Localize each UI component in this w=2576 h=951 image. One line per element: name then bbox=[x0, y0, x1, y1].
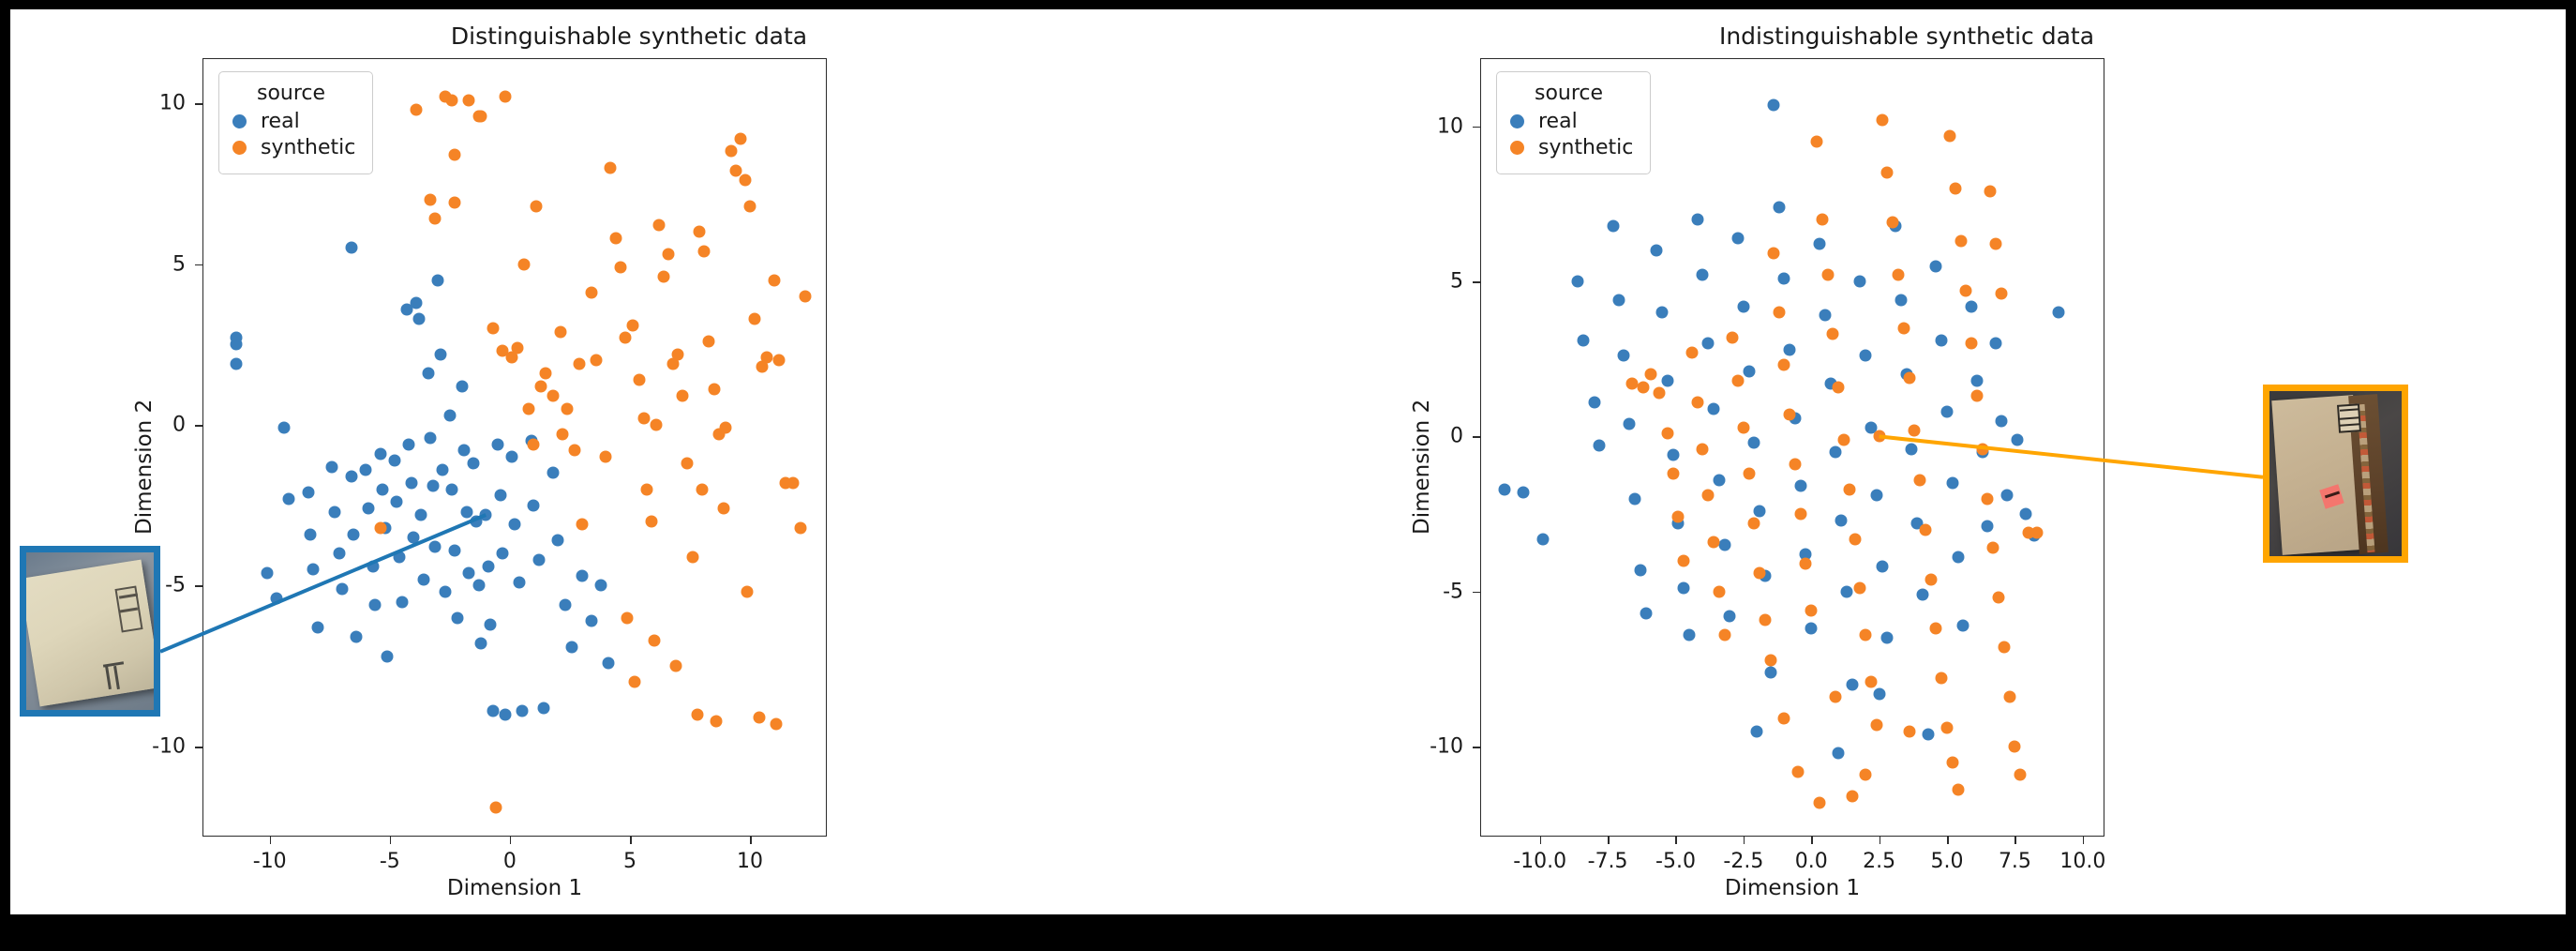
figure-canvas: Distinguishable synthetic data Dimension… bbox=[10, 9, 2566, 914]
data-point-real bbox=[552, 535, 564, 547]
data-point-synthetic bbox=[754, 712, 766, 724]
data-point-synthetic bbox=[614, 261, 626, 273]
data-point-synthetic bbox=[1748, 518, 1760, 530]
data-point-synthetic bbox=[1685, 347, 1698, 359]
data-point-real bbox=[1876, 561, 1888, 573]
data-point-real bbox=[1922, 728, 1934, 740]
data-point-real bbox=[576, 570, 588, 582]
data-point-synthetic bbox=[1854, 582, 1866, 595]
data-point-real bbox=[302, 487, 314, 499]
data-point-synthetic bbox=[1754, 566, 1766, 579]
data-point-real bbox=[537, 702, 549, 714]
legend-dot-synthetic-icon bbox=[232, 141, 247, 155]
box-photo-left bbox=[26, 552, 154, 710]
data-point-real bbox=[585, 615, 597, 627]
data-point-synthetic bbox=[1784, 409, 1796, 421]
data-point-synthetic bbox=[799, 290, 811, 302]
data-point-synthetic bbox=[717, 503, 729, 515]
data-point-real bbox=[403, 438, 415, 450]
data-point-real bbox=[1691, 213, 1703, 225]
data-point-synthetic bbox=[1897, 322, 1910, 334]
inset-border-left bbox=[20, 546, 160, 717]
data-point-synthetic bbox=[1946, 756, 1958, 768]
data-point-synthetic bbox=[1976, 443, 1988, 455]
data-point-synthetic bbox=[1930, 623, 1942, 635]
data-point-synthetic bbox=[741, 586, 754, 598]
data-point-real bbox=[334, 548, 346, 560]
x-tick bbox=[1947, 837, 1949, 844]
data-point-real bbox=[595, 580, 607, 592]
data-point-real bbox=[1651, 245, 1663, 257]
x-tick bbox=[1675, 837, 1677, 844]
data-point-real bbox=[1751, 725, 1763, 737]
data-point-real bbox=[1708, 402, 1720, 415]
data-point-synthetic bbox=[562, 402, 574, 415]
data-point-real bbox=[230, 357, 242, 370]
y-tick bbox=[195, 747, 202, 748]
y-tick bbox=[195, 103, 202, 105]
data-point-synthetic bbox=[2030, 526, 2043, 538]
data-point-synthetic bbox=[1903, 371, 1915, 384]
data-point-real bbox=[532, 554, 545, 566]
data-point-synthetic bbox=[648, 634, 660, 646]
data-point-real bbox=[1764, 666, 1776, 678]
data-point-synthetic bbox=[528, 438, 540, 450]
data-point-real bbox=[2012, 433, 2024, 445]
data-point-real bbox=[425, 431, 437, 444]
data-point-real bbox=[405, 476, 417, 489]
data-point-synthetic bbox=[1952, 784, 1964, 796]
data-point-real bbox=[2052, 307, 2064, 319]
data-point-synthetic bbox=[1876, 114, 1888, 127]
data-point-synthetic bbox=[646, 515, 658, 527]
data-point-real bbox=[1743, 365, 1755, 377]
data-point-synthetic bbox=[1678, 554, 1690, 566]
data-point-real bbox=[1778, 272, 1790, 284]
data-point-real bbox=[1536, 533, 1549, 545]
legend-title-right: source bbox=[1535, 82, 1633, 105]
data-point-real bbox=[566, 641, 578, 653]
x-tick bbox=[1540, 837, 1542, 844]
data-point-synthetic bbox=[591, 355, 603, 367]
data-point-synthetic bbox=[1860, 629, 1872, 642]
legend-dot-real-icon bbox=[232, 114, 247, 128]
data-point-real bbox=[283, 492, 295, 505]
data-point-real bbox=[412, 312, 425, 325]
data-point-synthetic bbox=[1760, 613, 1772, 626]
data-point-synthetic bbox=[446, 94, 458, 106]
data-point-synthetic bbox=[1813, 796, 1825, 808]
data-point-synthetic bbox=[1794, 508, 1806, 521]
data-point-synthetic bbox=[1833, 381, 1845, 393]
panel-indistinguishable: Indistinguishable synthetic data Dimensi… bbox=[1288, 9, 2566, 914]
data-point-synthetic bbox=[626, 319, 638, 331]
data-point-synthetic bbox=[1713, 585, 1725, 597]
y-tick bbox=[195, 425, 202, 427]
data-point-synthetic bbox=[1943, 129, 1955, 142]
data-point-real bbox=[311, 622, 323, 634]
data-point-real bbox=[1946, 477, 1958, 490]
data-point-synthetic bbox=[1870, 718, 1882, 731]
data-point-real bbox=[472, 580, 485, 592]
data-point-synthetic bbox=[518, 258, 531, 270]
y-tick bbox=[1473, 436, 1480, 438]
data-point-real bbox=[369, 599, 382, 611]
data-point-synthetic bbox=[1887, 217, 1899, 229]
data-point-synthetic bbox=[1873, 430, 1885, 443]
data-point-synthetic bbox=[547, 390, 559, 402]
data-point-synthetic bbox=[640, 483, 652, 495]
data-point-real bbox=[1995, 415, 2007, 427]
data-point-synthetic bbox=[1778, 713, 1790, 725]
data-point-real bbox=[427, 480, 439, 492]
legend-row-real-right[interactable]: real bbox=[1510, 110, 1633, 133]
data-point-real bbox=[1970, 374, 1983, 386]
data-point-synthetic bbox=[448, 197, 460, 209]
data-point-real bbox=[307, 564, 319, 576]
data-point-synthetic bbox=[1936, 672, 1948, 685]
data-point-synthetic bbox=[489, 802, 502, 814]
data-point-real bbox=[350, 631, 362, 643]
data-point-synthetic bbox=[1984, 186, 1997, 198]
data-point-real bbox=[1906, 443, 1918, 455]
y-tick-label: 0 bbox=[1386, 425, 1463, 448]
data-point-real bbox=[1618, 350, 1630, 362]
data-point-real bbox=[437, 464, 449, 476]
data-point-synthetic bbox=[1789, 459, 1801, 471]
data-point-real bbox=[456, 380, 468, 392]
data-point-real bbox=[1957, 620, 1969, 632]
x-tick-label: 10 bbox=[737, 850, 763, 873]
data-point-real bbox=[1990, 338, 2002, 350]
data-point-synthetic bbox=[657, 271, 669, 283]
data-point-real bbox=[305, 528, 317, 540]
data-point-synthetic bbox=[794, 521, 806, 534]
data-point-synthetic bbox=[1727, 331, 1739, 343]
data-point-real bbox=[271, 593, 283, 605]
data-point-real bbox=[417, 573, 429, 585]
data-point-real bbox=[1982, 521, 1994, 533]
data-point-real bbox=[1966, 300, 1978, 312]
data-point-synthetic bbox=[1838, 433, 1850, 445]
data-point-real bbox=[394, 551, 406, 563]
data-point-real bbox=[559, 599, 571, 611]
data-point-synthetic bbox=[523, 402, 535, 415]
data-point-real bbox=[1846, 678, 1858, 690]
legend-row-synthetic-right[interactable]: synthetic bbox=[1510, 136, 1633, 159]
data-point-real bbox=[1936, 334, 1948, 346]
inset-border-right bbox=[2263, 385, 2408, 563]
x-tick-label: -7.5 bbox=[1588, 850, 1628, 873]
data-point-real bbox=[468, 458, 480, 470]
data-point-synthetic bbox=[725, 145, 737, 158]
data-point-synthetic bbox=[1954, 235, 1967, 248]
y-tick bbox=[1473, 127, 1480, 128]
data-point-synthetic bbox=[651, 418, 663, 430]
data-point-synthetic bbox=[686, 551, 698, 563]
data-point-synthetic bbox=[600, 451, 612, 463]
data-point-real bbox=[2000, 490, 2013, 502]
data-point-synthetic bbox=[1654, 387, 1666, 400]
data-point-synthetic bbox=[711, 715, 723, 727]
data-point-synthetic bbox=[772, 355, 785, 367]
data-point-synthetic bbox=[609, 233, 622, 245]
data-point-synthetic bbox=[1941, 722, 1954, 734]
data-point-real bbox=[443, 409, 456, 421]
data-point-synthetic bbox=[1990, 238, 2002, 250]
data-point-real bbox=[1895, 294, 1907, 306]
data-point-synthetic bbox=[729, 165, 741, 177]
plot-title-right: Indistinguishable synthetic data bbox=[1325, 23, 2488, 50]
data-point-synthetic bbox=[1846, 791, 1858, 803]
data-point-real bbox=[463, 566, 475, 579]
x-tick-label: 7.5 bbox=[1999, 850, 2031, 873]
legend-right[interactable]: source real synthetic bbox=[1496, 71, 1651, 174]
data-point-real bbox=[485, 618, 497, 630]
data-point-real bbox=[1578, 334, 1590, 346]
data-point-synthetic bbox=[605, 161, 617, 174]
data-point-real bbox=[506, 451, 518, 463]
data-point-real bbox=[382, 650, 394, 662]
data-point-synthetic bbox=[1708, 536, 1720, 548]
data-point-real bbox=[1805, 623, 1818, 635]
data-point-synthetic bbox=[1764, 654, 1776, 666]
data-point-real bbox=[374, 447, 386, 460]
data-point-synthetic bbox=[576, 519, 588, 531]
y-tick bbox=[1473, 747, 1480, 748]
data-point-synthetic bbox=[557, 429, 569, 441]
x-tick bbox=[630, 837, 632, 844]
data-point-real bbox=[391, 496, 403, 508]
data-point-real bbox=[1629, 492, 1641, 505]
data-point-synthetic bbox=[669, 660, 681, 672]
data-point-synthetic bbox=[720, 422, 732, 434]
data-point-real bbox=[410, 296, 422, 309]
data-point-synthetic bbox=[1998, 642, 2010, 654]
data-point-synthetic bbox=[475, 110, 487, 122]
data-point-real bbox=[408, 532, 420, 544]
y-tick-label: 10 bbox=[1386, 114, 1463, 138]
data-point-real bbox=[516, 705, 528, 717]
y-tick-label: 10 bbox=[109, 92, 186, 115]
data-point-synthetic bbox=[1995, 288, 2007, 300]
x-tick-label: 5 bbox=[623, 850, 637, 873]
data-point-real bbox=[1667, 449, 1679, 461]
data-point-synthetic bbox=[554, 325, 566, 338]
legend-title-left: source bbox=[257, 82, 355, 105]
data-point-synthetic bbox=[1805, 604, 1818, 616]
data-point-synthetic bbox=[744, 200, 756, 212]
inset-thumbnail-left[interactable] bbox=[20, 546, 160, 717]
data-point-synthetic bbox=[499, 91, 511, 103]
x-tick bbox=[2014, 837, 2016, 844]
y-tick bbox=[195, 264, 202, 266]
data-point-synthetic bbox=[771, 717, 783, 730]
data-point-synthetic bbox=[429, 213, 442, 225]
data-point-synthetic bbox=[535, 380, 547, 392]
data-point-real bbox=[1737, 300, 1749, 312]
data-point-synthetic bbox=[1743, 468, 1755, 480]
data-point-synthetic bbox=[1860, 768, 1872, 780]
data-point-synthetic bbox=[1881, 167, 1894, 179]
data-point-synthetic bbox=[787, 476, 800, 489]
data-point-synthetic bbox=[585, 287, 597, 299]
data-point-real bbox=[1870, 490, 1882, 502]
data-point-real bbox=[1713, 474, 1725, 486]
data-point-real bbox=[396, 596, 408, 608]
data-point-real bbox=[1594, 440, 1606, 452]
data-point-real bbox=[328, 506, 340, 518]
data-point-synthetic bbox=[629, 676, 641, 688]
data-point-real bbox=[451, 611, 463, 624]
data-point-real bbox=[422, 368, 434, 380]
y-tick-label: 5 bbox=[109, 252, 186, 276]
data-point-real bbox=[1840, 585, 1852, 597]
data-point-synthetic bbox=[1949, 182, 1961, 194]
data-point-synthetic bbox=[2009, 741, 2021, 753]
y-axis-label-right: Dimension 2 bbox=[1410, 400, 1434, 535]
y-tick-label: -5 bbox=[1386, 580, 1463, 603]
data-point-synthetic bbox=[487, 323, 499, 335]
data-point-real bbox=[1813, 238, 1825, 250]
data-point-synthetic bbox=[677, 390, 689, 402]
x-tick bbox=[1811, 837, 1813, 844]
data-point-real bbox=[345, 242, 357, 254]
data-point-synthetic bbox=[1778, 359, 1790, 371]
data-point-real bbox=[475, 638, 487, 650]
data-point-synthetic bbox=[708, 384, 720, 396]
data-point-synthetic bbox=[1773, 307, 1785, 319]
y-tick-label: 0 bbox=[109, 413, 186, 436]
data-point-synthetic bbox=[2003, 691, 2015, 703]
y-tick bbox=[195, 585, 202, 587]
data-point-synthetic bbox=[734, 132, 746, 144]
data-point-real bbox=[1518, 486, 1530, 498]
y-tick-label: -10 bbox=[1386, 735, 1463, 759]
data-point-synthetic bbox=[1811, 136, 1823, 148]
data-point-synthetic bbox=[1645, 369, 1657, 381]
data-point-real bbox=[487, 705, 499, 717]
data-point-synthetic bbox=[1732, 374, 1745, 386]
data-point-real bbox=[446, 483, 458, 495]
data-point-synthetic bbox=[652, 219, 665, 232]
data-point-real bbox=[480, 509, 492, 521]
data-point-synthetic bbox=[531, 200, 543, 212]
data-point-synthetic bbox=[1661, 428, 1673, 440]
data-point-synthetic bbox=[1791, 765, 1804, 777]
x-tick bbox=[510, 837, 512, 844]
legend-label-synthetic-right: synthetic bbox=[1538, 136, 1633, 159]
data-point-synthetic bbox=[1843, 483, 1855, 495]
data-point-real bbox=[509, 519, 521, 531]
data-point-real bbox=[1930, 260, 1942, 272]
data-point-synthetic bbox=[681, 458, 694, 470]
data-point-real bbox=[514, 577, 526, 589]
y-tick bbox=[1473, 281, 1480, 283]
data-point-real bbox=[1724, 611, 1736, 623]
data-point-real bbox=[362, 503, 374, 515]
x-tick bbox=[1608, 837, 1610, 844]
data-point-real bbox=[1767, 98, 1779, 111]
legend-label-real-right: real bbox=[1538, 110, 1578, 133]
data-point-synthetic bbox=[694, 226, 706, 238]
data-point-synthetic bbox=[696, 483, 708, 495]
data-point-real bbox=[1881, 632, 1894, 644]
data-point-real bbox=[458, 445, 471, 457]
legend-dot-real-icon bbox=[1510, 114, 1524, 128]
data-point-synthetic bbox=[662, 249, 674, 261]
data-point-synthetic bbox=[1702, 490, 1715, 502]
data-point-synthetic bbox=[463, 94, 475, 106]
data-point-real bbox=[360, 464, 372, 476]
data-point-synthetic bbox=[1892, 269, 1904, 281]
data-point-real bbox=[1854, 276, 1866, 288]
data-point-synthetic bbox=[1960, 285, 1972, 297]
data-point-real bbox=[1754, 505, 1766, 517]
y-tick-label: -10 bbox=[109, 734, 186, 758]
legend-row-real-left[interactable]: real bbox=[232, 110, 355, 133]
data-point-real bbox=[278, 422, 291, 434]
data-point-synthetic bbox=[1993, 592, 2005, 604]
data-point-synthetic bbox=[425, 193, 437, 205]
data-point-real bbox=[494, 490, 506, 502]
x-axis-label-left: Dimension 1 bbox=[447, 876, 582, 900]
data-point-real bbox=[528, 499, 540, 511]
inset-thumbnail-right[interactable] bbox=[2263, 385, 2408, 563]
data-point-synthetic bbox=[1691, 397, 1703, 409]
data-point-real bbox=[429, 541, 442, 553]
data-point-real bbox=[1830, 445, 1842, 458]
x-tick-label: 0 bbox=[503, 850, 517, 873]
x-tick bbox=[270, 837, 272, 844]
legend-row-synthetic-left[interactable]: synthetic bbox=[232, 136, 355, 159]
data-point-synthetic bbox=[1909, 424, 1921, 436]
data-point-real bbox=[1873, 687, 1885, 700]
data-point-real bbox=[499, 708, 511, 720]
legend-label-synthetic-left: synthetic bbox=[261, 136, 355, 159]
data-point-real bbox=[336, 582, 348, 595]
data-point-synthetic bbox=[1718, 629, 1730, 642]
data-point-real bbox=[434, 348, 446, 360]
data-point-real bbox=[547, 467, 559, 479]
data-point-real bbox=[492, 438, 504, 450]
data-point-real bbox=[348, 528, 360, 540]
data-point-synthetic bbox=[1697, 443, 1709, 455]
data-point-real bbox=[1607, 219, 1619, 232]
data-point-synthetic bbox=[703, 335, 715, 347]
x-tick bbox=[390, 837, 392, 844]
data-point-real bbox=[482, 560, 494, 572]
data-point-synthetic bbox=[1982, 492, 1994, 505]
data-point-real bbox=[1624, 418, 1636, 430]
x-tick-label: 2.5 bbox=[1863, 850, 1895, 873]
data-point-real bbox=[1784, 343, 1796, 355]
data-point-synthetic bbox=[691, 708, 703, 720]
x-tick-label: 0.0 bbox=[1795, 850, 1828, 873]
data-point-synthetic bbox=[619, 332, 631, 344]
legend-left[interactable]: source real synthetic bbox=[218, 71, 373, 174]
x-tick-label: 5.0 bbox=[1931, 850, 1964, 873]
data-point-synthetic bbox=[1637, 381, 1649, 393]
data-point-synthetic bbox=[1667, 468, 1679, 480]
data-point-real bbox=[1634, 564, 1646, 576]
data-point-synthetic bbox=[1970, 390, 1983, 402]
data-point-real bbox=[1773, 201, 1785, 213]
data-point-real bbox=[497, 548, 509, 560]
y-tick bbox=[1473, 592, 1480, 594]
data-point-synthetic bbox=[698, 245, 711, 257]
data-point-real bbox=[1588, 397, 1600, 409]
